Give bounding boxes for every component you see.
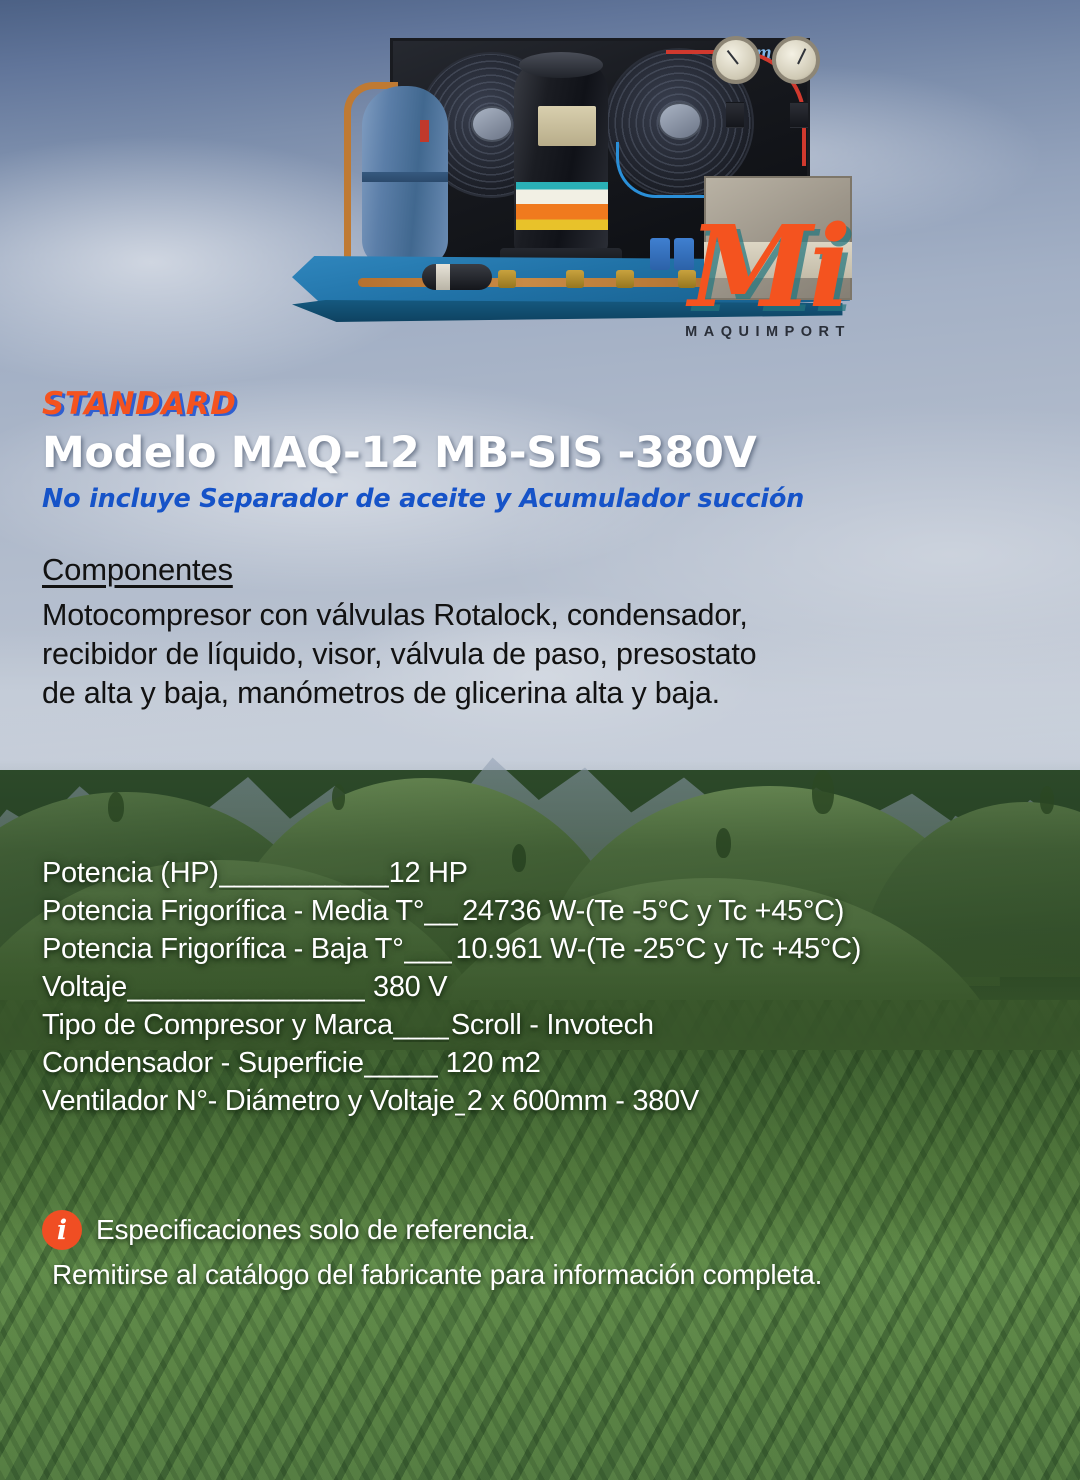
spec-value: 10.961 W-(Te -25°C y Tc +45°C) bbox=[456, 933, 862, 966]
fan-hub bbox=[471, 106, 513, 142]
components-heading: Componentes bbox=[42, 552, 1042, 588]
tank-band bbox=[362, 172, 448, 182]
brass-valve bbox=[616, 270, 634, 288]
components-section: Componentes Motocompresor con válvulas R… bbox=[42, 552, 1042, 713]
brass-valve bbox=[498, 270, 516, 288]
spec-label: Potencia Frigorífica - Baja T° bbox=[42, 933, 404, 966]
spec-value: 120 m2 bbox=[446, 1047, 541, 1080]
spec-leader: _______ bbox=[364, 1047, 438, 1080]
pressure-gauge-high-icon bbox=[712, 36, 760, 84]
spec-leader: ____________________ bbox=[219, 857, 389, 890]
spec-value: 12 HP bbox=[389, 857, 468, 890]
pressure-switch bbox=[726, 102, 744, 128]
info-icon: i bbox=[42, 1210, 82, 1250]
components-line: de alta y baja, manómetros de glicerina … bbox=[42, 674, 1042, 713]
brand-logo: Mi MAQUIMPORT bbox=[668, 216, 868, 362]
product-spec-sheet: m Mi MAQUIMPO bbox=[0, 0, 1080, 1480]
spec-leader: _____ bbox=[393, 1009, 449, 1042]
spec-leader: ____ bbox=[404, 933, 452, 966]
spec-row: Potencia (HP) ____________________ 12 HP bbox=[42, 857, 1052, 890]
page-title-model: Modelo MAQ-12 MB-SIS -380V bbox=[42, 428, 1042, 478]
spec-value: 24736 W-(Te -5°C y Tc +45°C) bbox=[462, 895, 844, 928]
spec-label: Potencia (HP) bbox=[42, 857, 219, 890]
pressure-gauge-low-icon bbox=[772, 36, 820, 84]
spec-row: Potencia Frigorífica - Media T° ___ 2473… bbox=[42, 895, 1052, 928]
spec-label: Condensador - Superficie bbox=[42, 1047, 364, 1080]
spec-value: 380 V bbox=[373, 971, 447, 1004]
pressure-switch bbox=[790, 102, 808, 128]
compressor-sticker bbox=[516, 182, 608, 230]
spec-label: Tipo de Compresor y Marca bbox=[42, 1009, 393, 1042]
compressor-nameplate bbox=[538, 106, 596, 146]
brand-wordmark: MAQUIMPORT bbox=[668, 324, 868, 340]
spec-row: Potencia Frigorífica - Baja T° ____ 10.9… bbox=[42, 933, 1052, 966]
spec-value: Scroll - Invotech bbox=[451, 1009, 654, 1042]
disclaimer-note: i Especificaciones solo de referencia. R… bbox=[42, 1210, 1052, 1291]
spec-label: Potencia Frigorífica - Media T° bbox=[42, 895, 424, 928]
valve-coil-cap bbox=[650, 238, 670, 270]
disclaimer-text: Especificaciones solo de referencia. bbox=[96, 1214, 536, 1246]
spec-leader: ___ bbox=[424, 895, 458, 928]
gauge-needle bbox=[727, 50, 739, 65]
filter-drier-band bbox=[436, 264, 450, 290]
tier-label-standard: STANDARD bbox=[42, 386, 1042, 422]
disclaimer-text: Remitirse al catálogo del fabricante par… bbox=[52, 1259, 822, 1290]
components-line: recibidor de líquido, visor, válvula de … bbox=[42, 635, 1042, 674]
spec-label: Voltaje bbox=[42, 971, 127, 1004]
model-subtitle: No incluye Separador de aceite y Acumula… bbox=[42, 484, 1042, 514]
components-description: Motocompresor con válvulas Rotalock, con… bbox=[42, 596, 1042, 713]
compressor-top-cap bbox=[519, 52, 603, 78]
gauge-needle bbox=[797, 48, 806, 64]
spec-row: Ventilador N°- Diámetro y Voltaje _ 2 x … bbox=[42, 1085, 1052, 1118]
filter-drier bbox=[422, 264, 492, 290]
disclaimer-line-1: i Especificaciones solo de referencia. bbox=[42, 1210, 1052, 1250]
brass-valve bbox=[566, 270, 584, 288]
spec-row: Voltaje __________________________ 380 V bbox=[42, 971, 1052, 1004]
disclaimer-line-2: Remitirse al catálogo del fabricante par… bbox=[42, 1259, 1052, 1291]
components-line: Motocompresor con válvulas Rotalock, con… bbox=[42, 596, 1042, 635]
spec-leader: __________________________ bbox=[127, 971, 365, 1004]
spec-label: Ventilador N°- Diámetro y Voltaje bbox=[42, 1085, 455, 1118]
spec-row: Tipo de Compresor y Marca _____ Scroll -… bbox=[42, 1009, 1052, 1042]
tank-label bbox=[420, 120, 429, 142]
spec-row: Condensador - Superficie _______ 120 m2 bbox=[42, 1047, 1052, 1080]
title-block: STANDARD Modelo MAQ-12 MB-SIS -380V No i… bbox=[42, 386, 1042, 514]
spec-value: 2 x 600mm - 380V bbox=[467, 1085, 699, 1118]
brand-mark-mi: Mi bbox=[668, 216, 868, 320]
spec-leader: _ bbox=[455, 1085, 465, 1118]
specifications-table: Potencia (HP) ____________________ 12 HP… bbox=[42, 857, 1052, 1123]
